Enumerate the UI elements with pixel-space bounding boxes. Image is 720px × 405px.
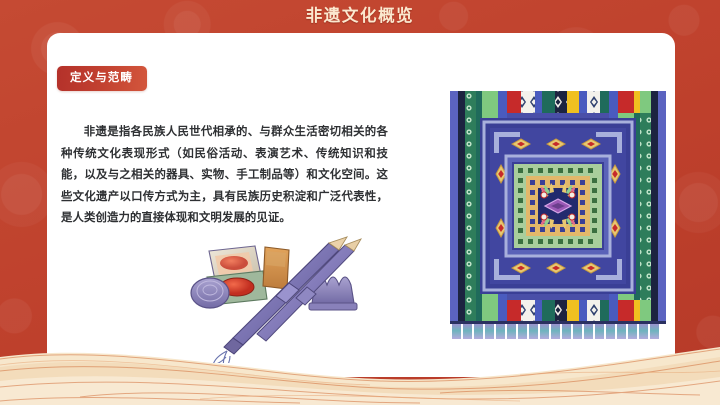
- carpet-top-band: [450, 91, 666, 113]
- section-badge-label: 定义与范畴: [70, 73, 133, 85]
- content-card: 定义与范畴 非遗是指各民族人民世代相承的、与群众生活密切相关的各种传统文化表现形…: [47, 33, 675, 377]
- calligraphy-tools-illustration: [177, 233, 377, 363]
- section-badge: 定义与范畴: [57, 66, 147, 91]
- slide-header: 非遗文化概览: [0, 0, 720, 33]
- ink-stone-lid: [191, 278, 229, 308]
- body-paragraph: 非遗是指各民族人民世代相承的、与群众生活密切相关的各种传统文化表现形式（如民俗活…: [61, 122, 388, 230]
- ink-stick: [263, 247, 289, 289]
- carpet-main-field: [480, 118, 636, 294]
- carpet-bottom-band: [450, 300, 666, 321]
- page-title: 非遗文化概览: [306, 8, 415, 25]
- woven-carpet-illustration: [444, 78, 672, 340]
- slide-background: 非遗文化概览 定义与范畴 非遗是指各民族人民世代相承的、与群众生活密切相关的各种…: [0, 0, 720, 405]
- carpet-tassel-fringe: [450, 321, 666, 339]
